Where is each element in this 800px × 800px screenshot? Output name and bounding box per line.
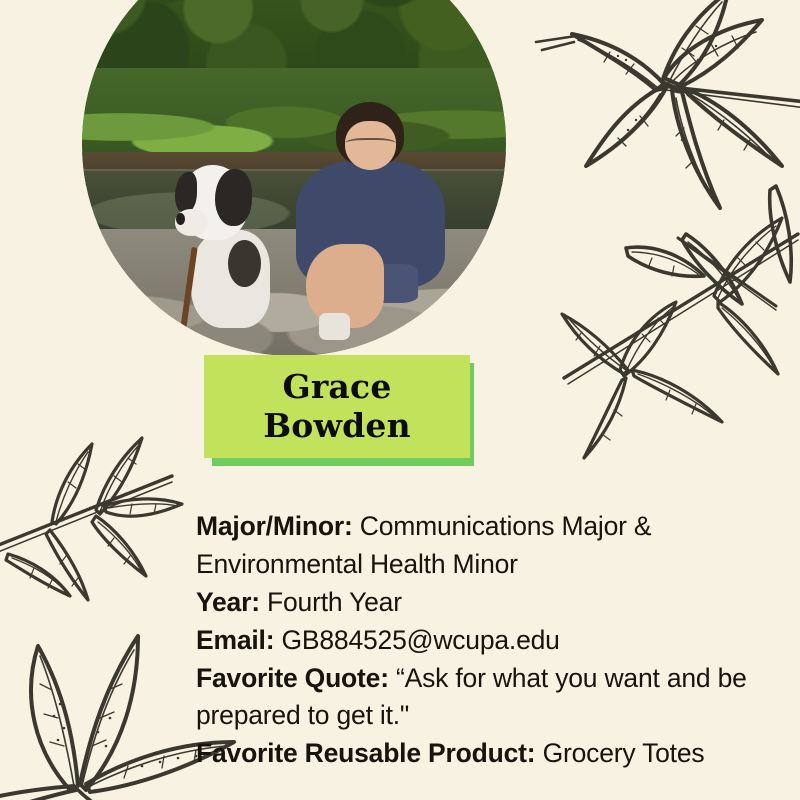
dog-ear [175,172,197,213]
last-name: Bowden [263,407,411,446]
profile-poster: Grace Bowden Major/Minor: Communications… [0,0,800,800]
dog-body [191,230,270,328]
detail-favorite-reusable-product: Favorite Reusable Product: Grocery Totes [196,735,776,773]
dog-head-patch [215,169,252,227]
detail-email: Email: GB884525@wcupa.edu [196,622,776,660]
first-name: Grace [282,368,391,407]
profile-details: Major/Minor: Communications Major & Envi… [196,508,776,773]
botanical-leaf-right-icon [554,210,800,480]
detail-year-value: Fourth Year [267,587,402,617]
detail-year-label: Year: [196,587,260,617]
photo-scene [82,0,506,356]
photo-person [286,102,456,348]
person-sock [319,313,350,340]
detail-major-minor: Major/Minor: Communications Major & Envi… [196,508,776,584]
name-banner: Grace Bowden [204,355,470,458]
detail-email-value: GB884525@wcupa.edu [282,625,560,655]
botanical-leaf-top-right-icon [476,0,800,330]
detail-year: Year: Fourth Year [196,584,776,622]
dog-nose [176,213,185,225]
detail-email-label: Email: [196,625,274,655]
detail-favorite-reusable-product-value: Grocery Totes [543,738,705,768]
photo-dog [175,165,285,335]
detail-favorite-reusable-product-label: Favorite Reusable Product: [196,738,535,768]
detail-favorite-quote-label: Favorite Quote: [196,663,389,693]
person-glasses [345,138,396,151]
botanical-leaf-bottom-left-icon [0,430,226,630]
detail-favorite-quote: Favorite Quote: “Ask for what you want a… [196,660,776,736]
detail-major-minor-label: Major/Minor: [196,511,353,541]
profile-photo [82,0,506,356]
